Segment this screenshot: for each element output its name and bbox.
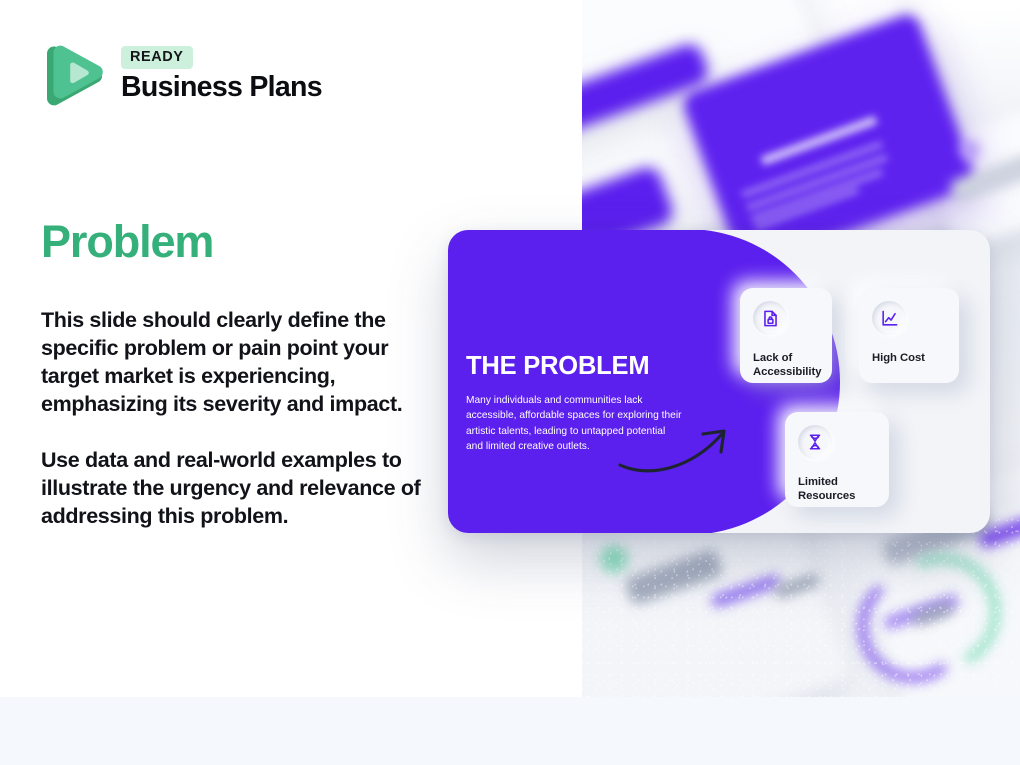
paragraph-2: Use data and real-world examples to illu… [41, 446, 433, 530]
bg-grain [582, 517, 1020, 697]
paragraph-1: This slide should clearly define the spe… [41, 306, 433, 419]
problem-heading: THE PROBLEM [466, 352, 649, 380]
brand-text: READY Business Plans [121, 46, 322, 105]
curved-arrow-icon [618, 418, 743, 478]
slide-preview-page: READY Business Plans Problem This slide … [0, 0, 1020, 765]
play-logo-icon [41, 38, 107, 112]
body-copy: This slide should clearly define the spe… [41, 306, 433, 530]
feature-label: High Cost [872, 351, 946, 365]
line-chart-icon [872, 301, 906, 335]
feature-label: Lack of Accessibility [753, 351, 819, 379]
slide-card[interactable]: THE PROBLEM Many individuals and communi… [448, 230, 990, 533]
document-lock-icon [753, 301, 787, 335]
feature-card-high-cost[interactable]: High Cost [859, 288, 959, 383]
feature-card-limited-resources[interactable]: Limited Resources [785, 412, 889, 507]
hourglass-icon [798, 425, 832, 459]
problem-panel [448, 230, 693, 533]
page-title: Problem [41, 218, 213, 265]
bottom-strip [0, 697, 1020, 765]
ready-badge: READY [121, 46, 193, 70]
brand-title: Business Plans [121, 72, 322, 104]
feature-label: Limited Resources [798, 475, 876, 503]
feature-card-accessibility[interactable]: Lack of Accessibility [740, 288, 832, 383]
brand-lockup: READY Business Plans [41, 38, 322, 112]
